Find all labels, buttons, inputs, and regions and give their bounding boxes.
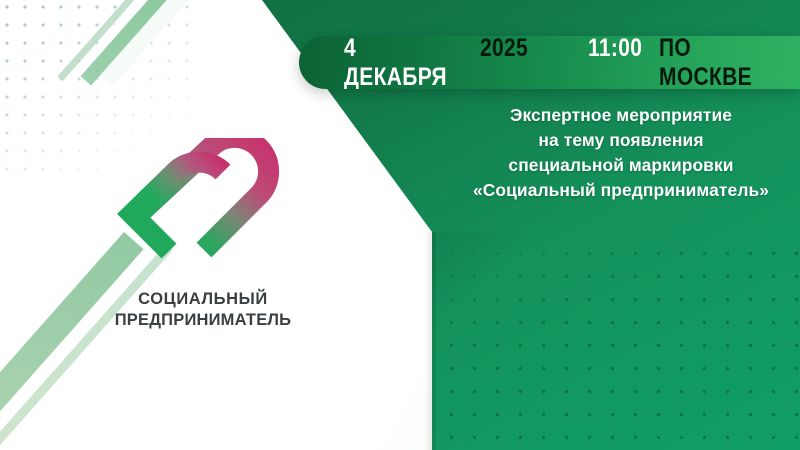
banner-canvas: 4 ДЕКАБРЯ 2025 11:00 ПО МОСКВЕ Экспертно…	[0, 0, 800, 450]
event-year-label: 2025	[480, 36, 528, 63]
date-time-pill-content: 4 ДЕКАБРЯ 2025 11:00 ПО МОСКВЕ	[299, 36, 800, 89]
heart-ribbon-icon	[108, 138, 298, 273]
date-time-pill: 4 ДЕКАБРЯ 2025 11:00 ПО МОСКВЕ	[299, 36, 800, 89]
event-headline: Экспертное мероприятие на тему появления…	[446, 103, 796, 203]
headline-line-1: Экспертное мероприятие	[446, 103, 796, 128]
brand-name-line-1: СОЦИАЛЬНЫЙ	[108, 289, 298, 310]
event-timezone-label: ПО МОСКВЕ	[659, 36, 777, 89]
brand-name-line-2: ПРЕДПРИНИМАТЕЛЬ	[108, 310, 298, 331]
brand-logo: СОЦИАЛЬНЫЙ ПРЕДПРИНИМАТЕЛЬ	[108, 138, 298, 348]
headline-line-4: «Социальный предприниматель»	[446, 178, 796, 203]
headline-line-2: на тему появления	[446, 128, 796, 153]
headline-line-3: специальной маркировки	[446, 153, 796, 178]
brand-logo-wordmark: СОЦИАЛЬНЫЙ ПРЕДПРИНИМАТЕЛЬ	[108, 289, 298, 331]
event-time-label: 11:00	[588, 36, 642, 63]
event-date-label: 4 ДЕКАБРЯ	[344, 36, 453, 89]
